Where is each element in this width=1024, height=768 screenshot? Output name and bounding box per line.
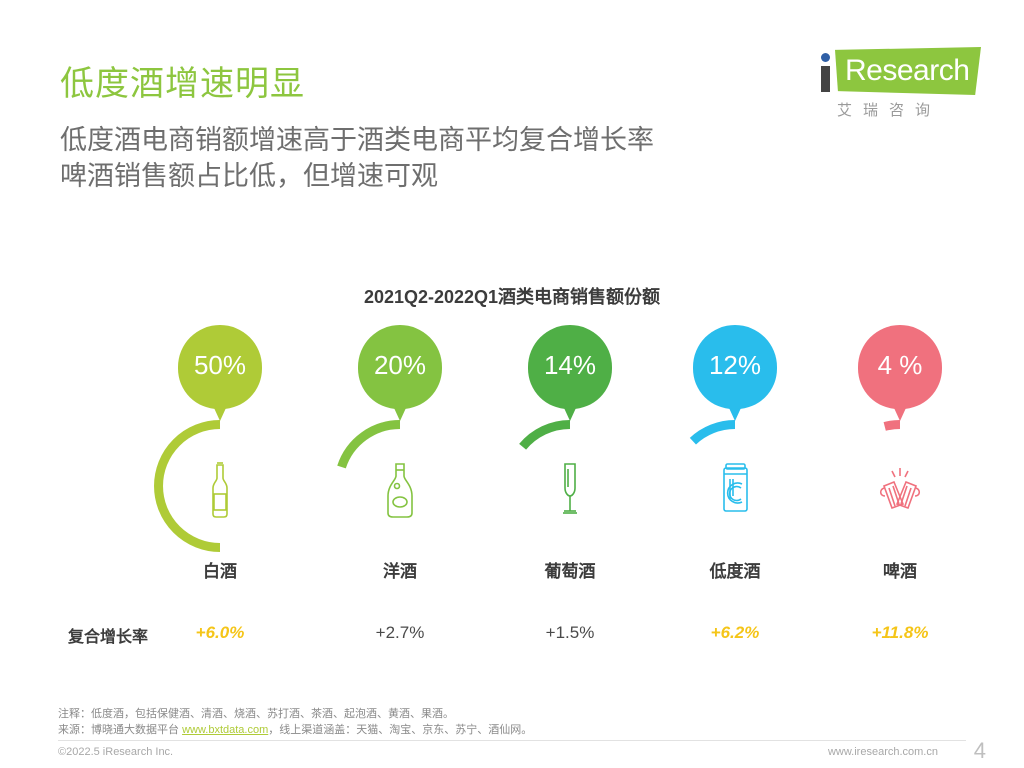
value-pin: 12% [693,325,777,420]
category-label: 葡萄酒 [483,557,657,582]
logo-i-dot-icon [821,53,830,62]
share-value-label: 4 % [858,325,942,405]
footnote-note: 注释：低度酒，包括保健酒、清酒、烧酒、苏打酒、茶酒、起泡酒、黄酒、果酒。 [58,706,968,722]
category-label: 洋酒 [313,557,487,582]
growth-rate-value: +1.5% [483,623,657,643]
copyright-text: ©2022.5 iResearch Inc. [58,746,173,758]
logo-wordmark: Research [845,54,969,88]
growth-rate-value: +11.8% [813,623,987,643]
bxtdata-link[interactable]: www.bxtdata.com [182,724,268,736]
growth-rate-value: +2.7% [313,623,487,643]
chart-column-pijiu: 4 % [813,325,987,595]
page-title: 低度酒增速明显 [60,62,305,106]
page-subtitle: 低度酒电商销额增速高于酒类电商平均复合增长率 啤酒销售额占比低，但增速可观 [60,122,654,194]
share-value-label: 50% [178,325,262,405]
iresearch-logo: Research 艾瑞咨询 [809,45,984,123]
category-label: 白酒 [133,557,307,582]
logo-i-stem-icon [821,66,830,92]
page-subtitle-line-2: 啤酒销售额占比低，但增速可观 [60,158,654,194]
growth-rate-value: +6.0% [133,623,307,643]
footnotes: 注释：低度酒，包括保健酒、清酒、烧酒、苏打酒、茶酒、起泡酒、黄酒、果酒。 来源：… [58,706,968,738]
share-value-label: 20% [358,325,442,405]
page-subtitle-line-1: 低度酒电商销额增速高于酒类电商平均复合增长率 [60,122,654,158]
footnote-source-suffix: ，线上渠道涵盖：天猫、淘宝、京东、苏宁、酒仙网。 [268,724,532,736]
value-pin: 20% [358,325,442,420]
logo-mark: Research [809,45,984,97]
page-header: 低度酒增速明显 低度酒电商销额增速高于酒类电商平均复合增长率 啤酒销售额占比低，… [0,0,1024,230]
logo-chinese-name: 艾瑞咨询 [837,99,941,120]
category-label: 啤酒 [813,557,987,582]
champagne-flute-icon [540,455,600,525]
liquor-bottle-icon [370,455,430,525]
value-pin: 50% [178,325,262,420]
category-label: 低度酒 [648,557,822,582]
footer-website: www.iresearch.com.cn [828,746,938,758]
footer-divider [58,740,966,741]
share-value-label: 14% [528,325,612,405]
chart-title: 2021Q2-2022Q1酒类电商销售额份额 [0,283,1024,309]
footnote-source: 来源：博晓通大数据平台 www.bxtdata.com，线上渠道涵盖：天猫、淘宝… [58,722,968,738]
chart-column-didujiu: 12% 低度酒 [648,325,822,595]
footnote-source-prefix: 来源：博晓通大数据平台 [58,724,182,736]
growth-rate-row: 复合增长率 +6.0% +2.7% +1.5% +6.2% +11.8% [0,623,1024,657]
page-number: 4 [974,738,986,764]
chart-column-yangjiu: 20% 洋酒 [313,325,487,595]
beer-mugs-cheers-icon [870,455,930,525]
growth-rate-value: +6.2% [648,623,822,643]
beer-can-icon [705,455,765,525]
wine-bottle-icon [190,455,250,525]
chart-column-baijiu: 50% 白酒 [133,325,307,595]
value-pin: 4 % [858,325,942,420]
page-footer: ©2022.5 iResearch Inc. www.iresearch.com… [0,746,1024,768]
chart-columns: 50% 白酒 20% [118,325,988,595]
share-value-label: 12% [693,325,777,405]
value-pin: 14% [528,325,612,420]
chart-column-putaojiu: 14% 葡萄酒 [483,325,657,595]
